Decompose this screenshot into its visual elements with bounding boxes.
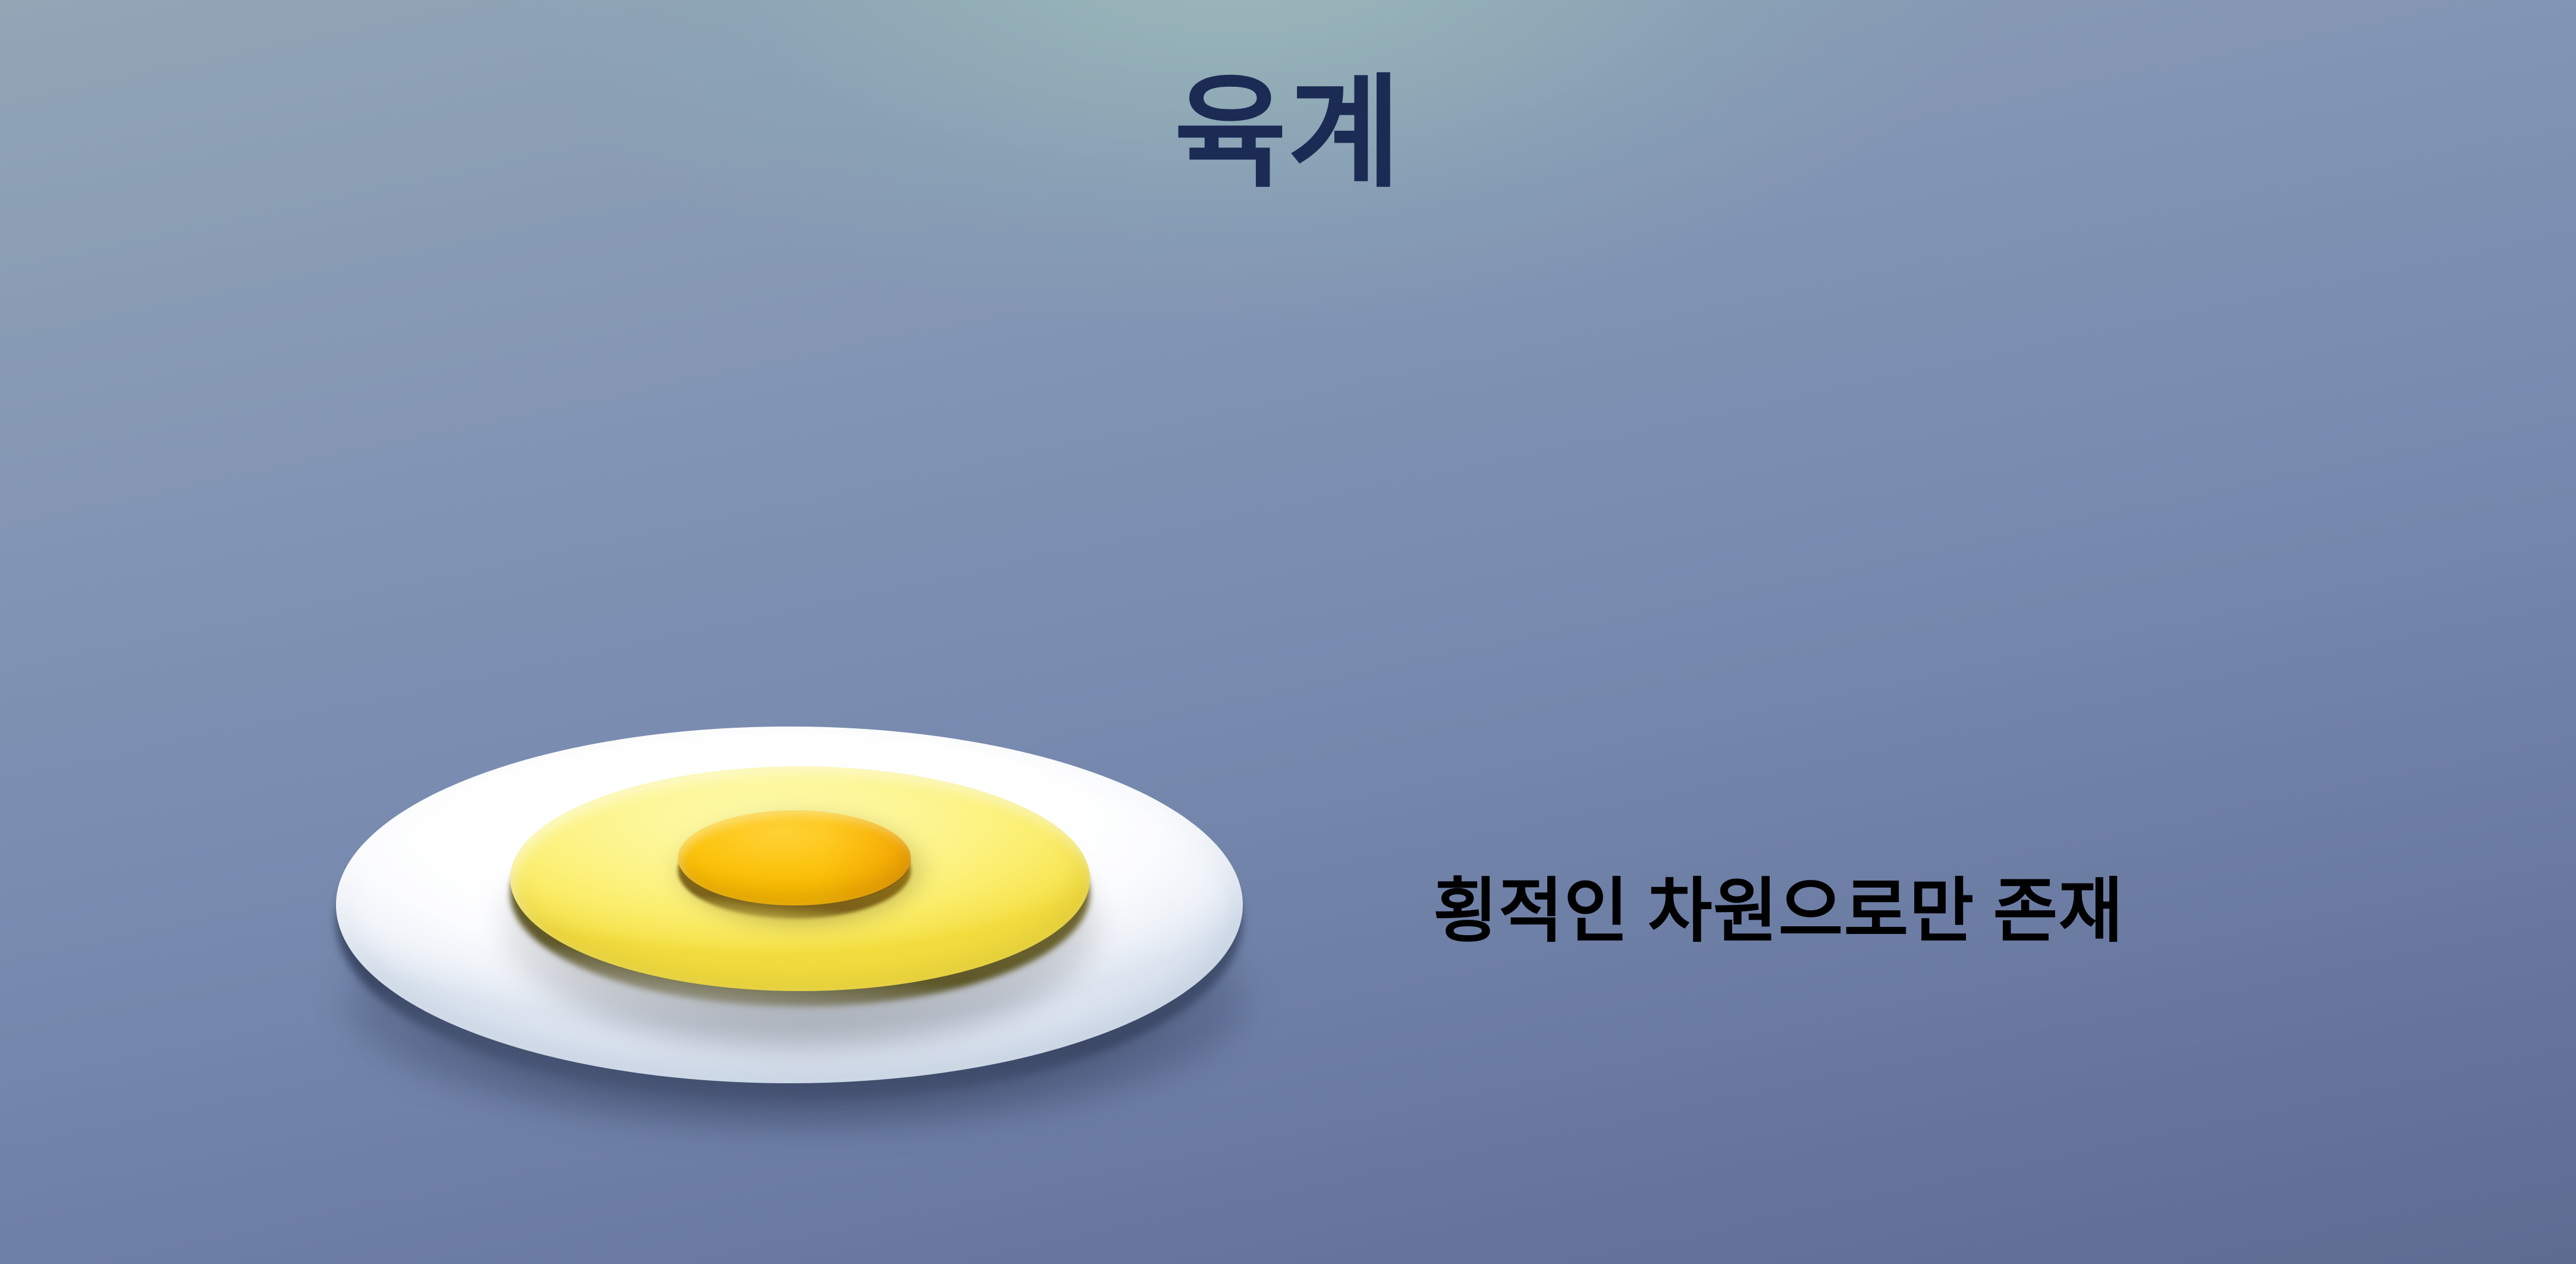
concentric-disc-graphic (321, 705, 1267, 1144)
gold-disc-warm-rim (678, 810, 911, 908)
slide-title: 육계 (0, 70, 2576, 199)
slide-body-text: 횡적인 차원으로만 존재 (1433, 873, 2124, 951)
presentation-slide: 육계 횡적인 차원으로만 존재 (0, 0, 2576, 1264)
